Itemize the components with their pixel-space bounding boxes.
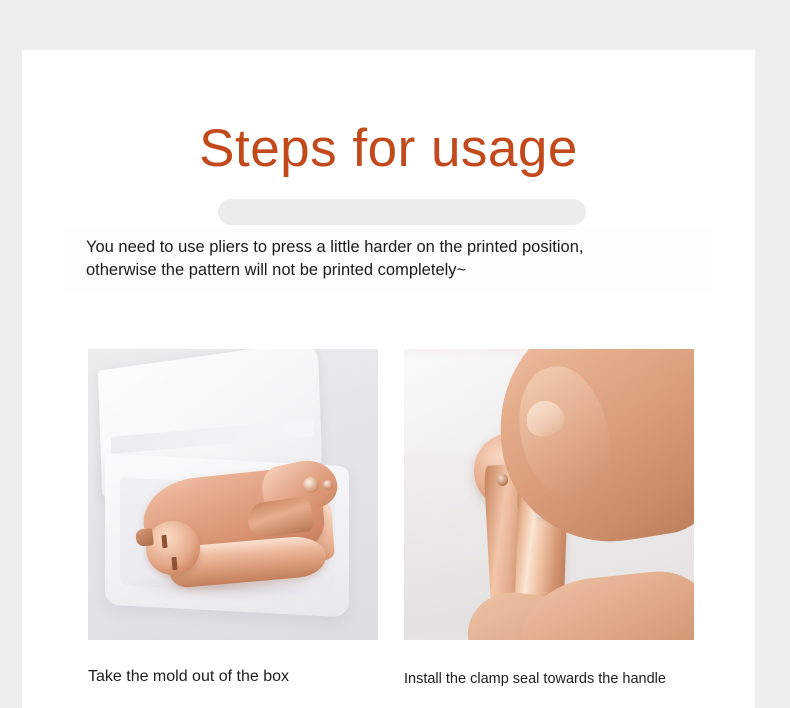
- step-1-caption: Take the mold out of the box: [88, 667, 289, 687]
- embosser-slot-upper: [161, 535, 167, 549]
- title-block: Steps for usage: [22, 118, 755, 218]
- step-2-photo-hand-holding-embosser: [404, 349, 694, 640]
- title-underline-bar: [218, 199, 586, 225]
- embosser-screw: [497, 474, 509, 486]
- step-2-caption: Install the clamp seal towards the handl…: [404, 669, 666, 689]
- step-1-cell: [88, 349, 378, 640]
- steps-photo-grid: [88, 349, 694, 640]
- subtitle-line-2: otherwise the pattern will not be printe…: [86, 259, 726, 282]
- step-1-photo-embosser-in-box: [88, 349, 378, 640]
- step-2-cell: [404, 349, 694, 640]
- embosser-pivot-screw: [303, 477, 319, 493]
- page-frame: Steps for usage You need to use pliers t…: [0, 0, 790, 708]
- subtitle-text: You need to use pliers to press a little…: [86, 236, 726, 282]
- page-title: Steps for usage: [22, 118, 755, 180]
- content-card: Steps for usage You need to use pliers t…: [22, 50, 755, 708]
- subtitle-line-1: You need to use pliers to press a little…: [86, 236, 726, 259]
